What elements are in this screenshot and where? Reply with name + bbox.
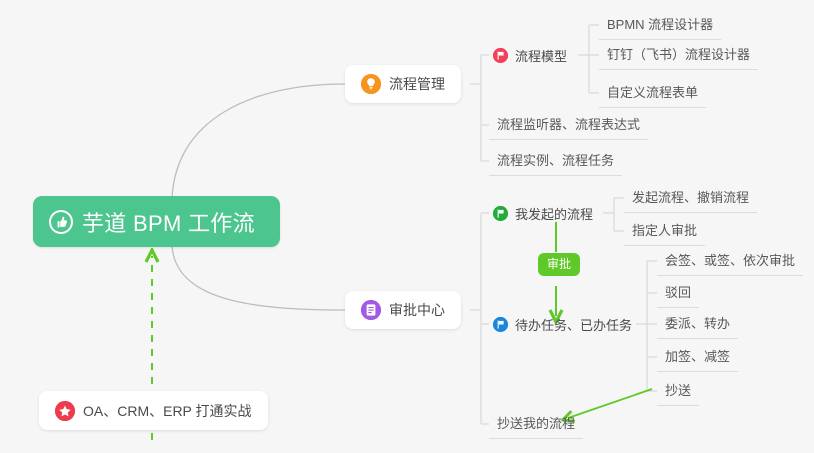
lightbulb-icon bbox=[361, 74, 381, 94]
leaf-node-cc[interactable]: 抄送 bbox=[657, 376, 699, 406]
sub-node-process-model[interactable]: 流程模型 bbox=[493, 42, 567, 68]
sub-node-my-started-process[interactable]: 我发起的流程 bbox=[493, 200, 593, 226]
leaf-node-cc-to-me[interactable]: 抄送我的流程 bbox=[489, 409, 583, 439]
leaf-node-process-listener[interactable]: 流程监听器、流程表达式 bbox=[489, 110, 648, 140]
leaf-node-assignee-approval[interactable]: 指定人审批 bbox=[624, 216, 705, 246]
root-node-label: 芋道 BPM 工作流 bbox=[82, 206, 255, 238]
sub-node-todo-done-tasks[interactable]: 待办任务、已办任务 bbox=[493, 311, 632, 337]
leaf-node-bpmn-designer[interactable]: BPMN 流程设计器 bbox=[599, 10, 721, 40]
branch-label-process-management: 流程管理 bbox=[389, 74, 445, 94]
footer-node-integration[interactable]: OA、CRM、ERP 打通实战 bbox=[39, 391, 268, 430]
footer-node-label: OA、CRM、ERP 打通实战 bbox=[83, 401, 252, 421]
sub-node-label-my-started-process: 我发起的流程 bbox=[515, 204, 593, 223]
document-icon bbox=[361, 300, 381, 320]
sub-node-label-todo-done-tasks: 待办任务、已办任务 bbox=[515, 315, 632, 334]
leaf-node-add-remove-sign[interactable]: 加签、减签 bbox=[657, 342, 738, 372]
branch-node-approval-center[interactable]: 审批中心 bbox=[345, 291, 461, 329]
branch-label-approval-center: 审批中心 bbox=[389, 300, 445, 320]
leaf-node-delegate-transfer[interactable]: 委派、转办 bbox=[657, 309, 738, 339]
sub-node-label-process-model: 流程模型 bbox=[515, 46, 567, 65]
leaf-node-process-instance[interactable]: 流程实例、流程任务 bbox=[489, 146, 622, 176]
approval-badge[interactable]: 审批 bbox=[538, 253, 580, 276]
leaf-node-start-cancel-process[interactable]: 发起流程、撤销流程 bbox=[624, 183, 757, 213]
root-node[interactable]: 芋道 BPM 工作流 bbox=[33, 196, 280, 247]
branch-node-process-management[interactable]: 流程管理 bbox=[345, 65, 461, 103]
flag-icon-red bbox=[493, 48, 508, 63]
leaf-node-custom-form[interactable]: 自定义流程表单 bbox=[599, 78, 706, 108]
leaf-node-dingtalk-designer[interactable]: 钉钉（飞书）流程设计器 bbox=[599, 40, 758, 70]
mindmap-canvas: 芋道 BPM 工作流 流程管理 流程模型 BPMN 流程设计器 钉钉（飞书）流程… bbox=[0, 0, 814, 453]
flag-icon-green bbox=[493, 206, 508, 221]
flag-icon-blue bbox=[493, 317, 508, 332]
thumbs-up-icon bbox=[49, 210, 73, 234]
star-icon bbox=[55, 401, 75, 421]
leaf-node-reject[interactable]: 驳回 bbox=[657, 278, 699, 308]
leaf-node-countersign[interactable]: 会签、或签、依次审批 bbox=[657, 246, 803, 276]
